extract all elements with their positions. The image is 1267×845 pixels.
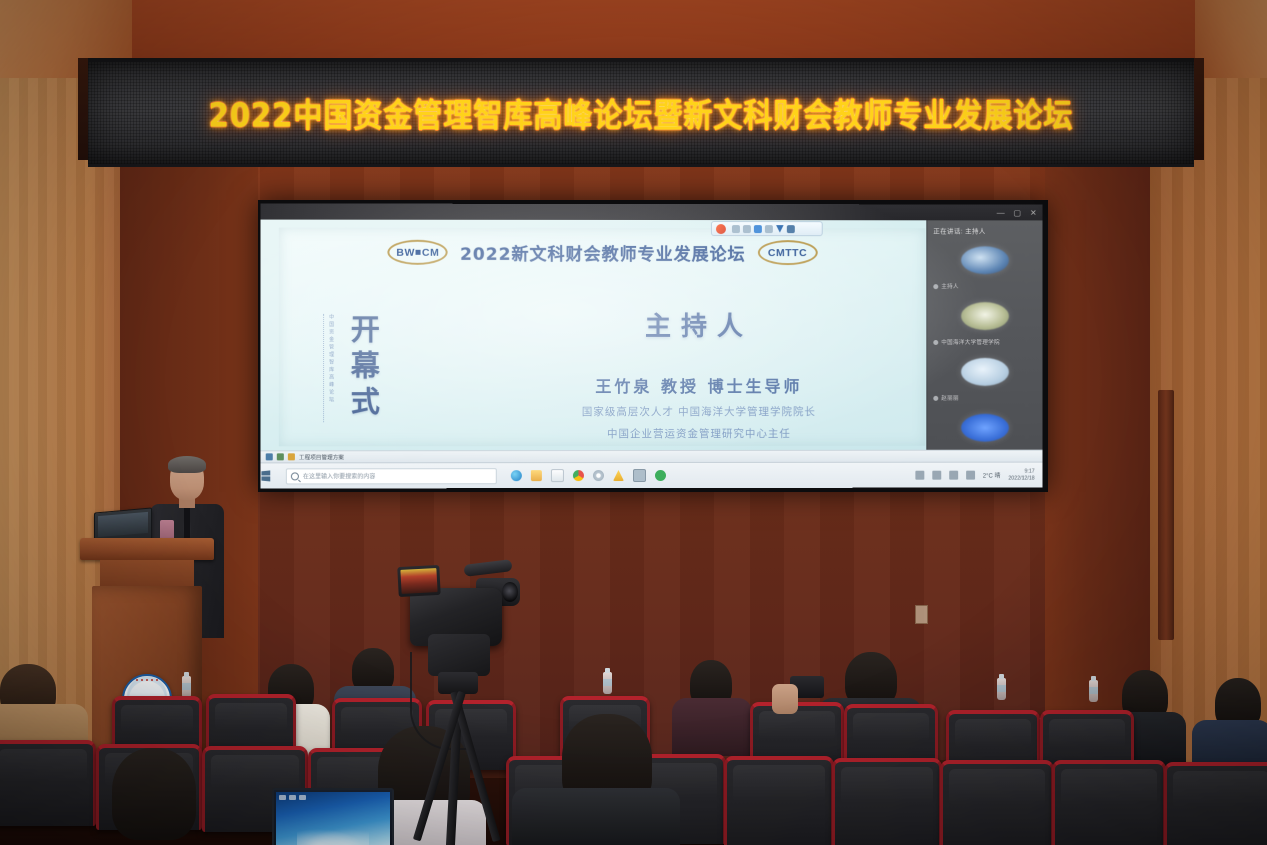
taskbar-pinned-icons [511, 469, 666, 482]
participant-tile[interactable] [927, 350, 1042, 394]
projection-screen-frame: — ▢ ✕ BWCM 2022新文科财会教师 [258, 200, 1048, 492]
window-titlebar: — ▢ ✕ [261, 204, 1043, 221]
led-banner: 2022中国资金管理智库高峰论坛暨新文科财会教师专业发展论坛 [88, 58, 1194, 167]
participant-tile[interactable] [927, 294, 1042, 338]
grid-icon[interactable] [787, 225, 795, 233]
explorer-window-strip[interactable]: 工程项目管理方案 [261, 450, 1043, 463]
avatar [961, 414, 1009, 442]
close-icon[interactable]: ✕ [1030, 208, 1037, 217]
volume-icon[interactable] [932, 471, 941, 480]
seat [724, 756, 834, 845]
document-icon [288, 453, 295, 460]
participant-name: 中国海洋大学管理学院 [941, 338, 1000, 346]
camera-lcd-screen [397, 565, 441, 597]
laptop-wallpaper [297, 826, 370, 845]
input-method-icon[interactable] [966, 471, 975, 480]
participant-name-row: 中国海洋大学管理学院 [927, 338, 1042, 350]
conference-hall-photo: 2022中国资金管理智库高峰论坛暨新文科财会教师专业发展论坛 — ▢ ✕ [0, 0, 1267, 845]
wechat-icon[interactable] [655, 470, 666, 481]
projection-screen: — ▢ ✕ BWCM 2022新文科财会教师 [261, 204, 1043, 489]
attendee-torso [672, 698, 752, 756]
wps-icon[interactable] [613, 470, 624, 481]
screen-icon[interactable] [633, 469, 646, 482]
seat [0, 740, 96, 826]
participant-tile[interactable] [927, 406, 1042, 450]
slide-header-title: 2022新文科财会教师专业发展论坛 [460, 240, 746, 265]
search-icon [291, 472, 299, 480]
audience-seating: 咨询咨询 [0, 648, 1267, 845]
wps-icon[interactable] [716, 224, 726, 234]
attendee-head [112, 748, 196, 840]
water-bottle [603, 672, 612, 694]
clock: 9:17 2022/12/18 [1008, 468, 1034, 481]
podium-top [80, 538, 214, 560]
explorer-icon [266, 453, 273, 460]
chrome-icon[interactable] [573, 470, 584, 481]
screen-icon[interactable] [765, 225, 773, 233]
folder-icon[interactable] [531, 470, 542, 481]
slide-vertical-title: 开幕式 [342, 314, 384, 422]
wall-switch-plate [915, 605, 928, 624]
maximize-icon[interactable]: ▢ [1014, 208, 1022, 217]
people-icon[interactable] [754, 225, 762, 233]
presenter-tie [184, 508, 190, 538]
water-bottle [1089, 680, 1098, 702]
participant-name-row: 赵丽丽 [927, 394, 1042, 406]
avatar [961, 302, 1009, 330]
browser-icon[interactable] [593, 470, 604, 481]
slide-center-title: 主持人 [490, 306, 908, 343]
participant-tile[interactable] [927, 238, 1042, 282]
wall-door-edge [1158, 390, 1174, 640]
search-input[interactable]: 在这里输入你要搜索的内容 [286, 468, 497, 484]
participant-name: 赵丽丽 [941, 394, 959, 402]
seat [1052, 760, 1166, 845]
edge-icon[interactable] [511, 470, 522, 481]
now-speaking-label: 正在讲话: 主持人 [927, 220, 1042, 238]
avatar [961, 246, 1009, 274]
mic-icon [933, 395, 938, 400]
mail-icon[interactable] [551, 469, 564, 482]
water-bottle [182, 676, 191, 698]
banner-frame-right [1194, 58, 1204, 160]
seat [1164, 762, 1267, 845]
mic-icon [933, 340, 938, 345]
laptop-screen [276, 792, 390, 845]
led-banner-text: 2022中国资金管理智库高峰论坛暨新文科财会教师专业发展论坛 [209, 89, 1074, 136]
folder-icon [277, 453, 284, 460]
attendee-hand [772, 684, 798, 714]
slide-affiliation-line-1: 国家级高层次人才 中国海洋大学管理学院院长 [490, 404, 908, 419]
podium-cup [160, 520, 174, 540]
banner-frame-left [78, 58, 88, 160]
screen-share-toolbar[interactable] [711, 221, 823, 236]
slide-center-block: 主持人 王竹泉 教授 博士生导师 国家级高层次人才 中国海洋大学管理学院院长 中… [490, 306, 908, 441]
attendee-laptop [272, 788, 394, 845]
network-icon[interactable] [915, 471, 924, 480]
camera-microphone [463, 559, 512, 577]
seat [832, 758, 942, 845]
pen-icon[interactable] [743, 225, 751, 233]
taskbar-tray: 2°C 晴 9:17 2022/12/18 [915, 468, 1038, 481]
weather-label[interactable]: 2°C 晴 [983, 471, 1001, 480]
clock-time: 9:17 [1024, 468, 1034, 474]
pointer-icon[interactable] [732, 225, 740, 233]
meeting-participants-sidebar[interactable]: 正在讲话: 主持人 主持人 中国海洋大学管理学院 赵丽丽 李云 山东大学 李子阳… [926, 220, 1042, 461]
slide-vertical-subtitle: 中国资金管理智库高峰论坛 [323, 314, 335, 422]
seat [940, 760, 1054, 845]
camcorder-on-tripod [392, 560, 542, 845]
presenter-hair [168, 456, 206, 473]
slide-speaker-name: 王竹泉 教授 博士生导师 [490, 373, 908, 397]
dropdown-icon[interactable] [776, 225, 784, 233]
minimize-icon[interactable]: — [997, 208, 1005, 217]
presentation-slide: BWCM 2022新文科财会教师专业发展论坛 CMTTC 开幕式 中国资金管理智… [279, 228, 926, 447]
podium-neck [100, 560, 194, 586]
participant-name-row: 主持人 [927, 282, 1042, 294]
ceiling-bevel-right [1195, 0, 1267, 78]
bwcm-logo-icon: BWCM [388, 240, 448, 265]
search-placeholder: 在这里输入你要搜索的内容 [303, 471, 375, 480]
cmttc-logo-icon: CMTTC [758, 240, 818, 265]
mic-icon [933, 284, 938, 289]
slide-vertical-title-block: 开幕式 中国资金管理智库高峰论坛 [323, 314, 384, 422]
avatar [961, 358, 1009, 386]
clock-date: 2022/12/18 [1008, 475, 1034, 481]
slide-affiliation-line-2: 中国企业营运资金管理研究中心主任 [490, 426, 908, 441]
windows-icon[interactable] [261, 470, 281, 481]
windows-taskbar[interactable]: 在这里输入你要搜索的内容 2°C 晴 [261, 462, 1043, 489]
battery-icon[interactable] [949, 471, 958, 480]
explorer-title: 工程项目管理方案 [299, 453, 344, 461]
slide-header: BWCM 2022新文科财会教师专业发展论坛 CMTTC [279, 240, 926, 266]
water-bottle [997, 678, 1006, 700]
participant-name: 主持人 [941, 282, 959, 290]
laptop-screen-icons [279, 795, 306, 800]
